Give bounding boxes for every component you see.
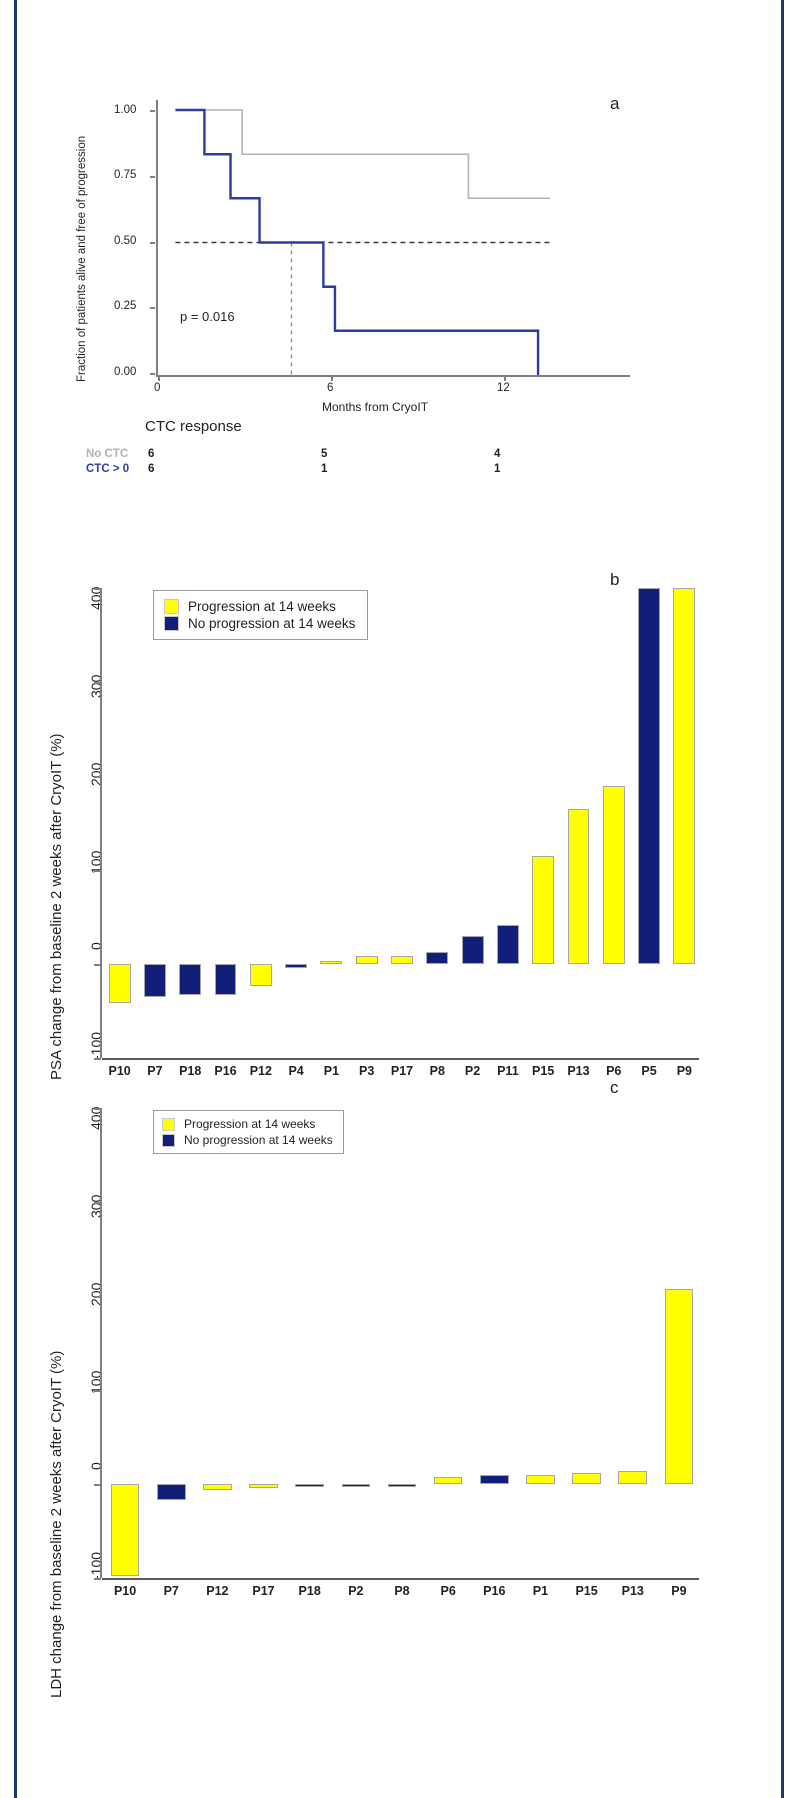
panel-b-ytick-mark-100 [94, 870, 101, 872]
panel-b-psa-waterfall: b PSA change from baseline 2 weeks after… [40, 560, 740, 1120]
x-label-P9: P9 [656, 1584, 702, 1598]
x-label-P15: P15 [564, 1584, 610, 1598]
risk-count-ctc-positive-6: 1 [321, 463, 327, 475]
panel-b-ytick-mark-300 [94, 682, 101, 684]
bar-P12 [250, 964, 272, 986]
bar-P12 [203, 1484, 232, 1490]
bar-P16 [215, 964, 237, 995]
bar-P5 [638, 588, 660, 964]
panel-c-y-axis-title: LDH change from baseline 2 weeks after C… [48, 1351, 65, 1698]
panel-b-y-axis-title: PSA change from baseline 2 weeks after C… [48, 733, 65, 1080]
risk-count-ctc-positive-0: 6 [148, 463, 154, 475]
risk-count-ctc-positive-12: 1 [494, 463, 500, 475]
panel-b-bars [102, 588, 702, 1058]
x-label-P2: P2 [333, 1584, 379, 1598]
bar-P9 [673, 588, 695, 964]
panel-b-letter: b [610, 570, 619, 590]
panel-c-ytick-mark-100 [94, 1390, 101, 1392]
bar-P4 [285, 964, 307, 968]
x-label-P16: P16 [471, 1584, 517, 1598]
panel-b-ytick-mark-200 [94, 776, 101, 778]
bar-P2 [462, 936, 484, 964]
bar-P15 [532, 856, 554, 964]
panel-a-kaplan-meier: a Fraction of patients alive and free of… [70, 90, 630, 400]
bar-P17 [249, 1484, 278, 1488]
bar-P15 [572, 1473, 601, 1484]
bar-P1 [526, 1475, 555, 1484]
x-label-P17: P17 [240, 1584, 286, 1598]
bar-P8 [426, 952, 448, 964]
risk-count-no-ctc-6: 5 [321, 448, 327, 460]
bar-P2 [342, 1484, 371, 1487]
bar-P13 [618, 1471, 647, 1484]
bar-P13 [568, 809, 590, 964]
bar-P10 [111, 1484, 140, 1576]
panel-c-ytick-mark-300 [94, 1202, 101, 1204]
panel-c-letter: c [610, 1078, 619, 1098]
x-label-P10: P10 [102, 1584, 148, 1598]
risk-table-title: CTC response [145, 418, 242, 435]
panel-a-xtick-1: 0 [154, 382, 160, 394]
risk-row-label-ctc-positive: CTC > 0 [86, 463, 129, 475]
bar-P1 [320, 961, 342, 964]
bar-P11 [497, 925, 519, 964]
bar-P3 [356, 956, 378, 964]
panel-c-ytick-mark-200 [94, 1296, 101, 1298]
bar-P16 [480, 1475, 509, 1484]
bar-P6 [603, 786, 625, 964]
x-label-P6: P6 [425, 1584, 471, 1598]
panel-c-ldh-waterfall: c LDH change from baseline 2 weeks after… [40, 1058, 740, 1758]
bar-P8 [388, 1484, 417, 1487]
risk-row-label-no-ctc: No CTC [86, 448, 128, 460]
panel-a-x-axis-title: Months from CryoIT [322, 400, 428, 414]
panel-a-risk-table: CTC response No CTC 6 5 4 CTC > 0 6 1 1 [70, 418, 630, 498]
bar-P7 [144, 964, 166, 997]
panel-a-letter: a [610, 94, 619, 114]
bar-P7 [157, 1484, 186, 1500]
panel-c-ytick-mark-minus100 [94, 1578, 101, 1580]
panel-c-ytick-mark-0 [94, 1484, 101, 1486]
x-label-P1: P1 [517, 1584, 563, 1598]
panel-b-ytick-mark-400 [94, 588, 101, 590]
risk-count-no-ctc-0: 6 [148, 448, 154, 460]
bar-P6 [434, 1477, 463, 1484]
bar-P18 [295, 1484, 324, 1487]
bar-P18 [179, 964, 201, 995]
panel-a-xtick-3: 12 [497, 382, 510, 394]
panel-b-ytick-mark-0 [94, 964, 101, 966]
panel-a-xtick-2: 6 [327, 382, 333, 394]
panel-c-x-axis-line [102, 1578, 699, 1580]
bar-P9 [665, 1289, 694, 1484]
bar-P17 [391, 956, 413, 964]
panel-c-ytick-mark-400 [94, 1108, 101, 1110]
x-label-P8: P8 [379, 1584, 425, 1598]
risk-count-no-ctc-12: 4 [494, 448, 500, 460]
x-label-P7: P7 [148, 1584, 194, 1598]
x-label-P18: P18 [287, 1584, 333, 1598]
bar-P10 [109, 964, 131, 1003]
panel-a-survival-curves [70, 90, 550, 380]
panel-c-bars [102, 1108, 702, 1578]
x-label-P13: P13 [610, 1584, 656, 1598]
x-label-P12: P12 [194, 1584, 240, 1598]
panel-c-x-axis-labels: P10P7P12P17P18P2P8P6P16P1P15P13P9 [102, 1584, 702, 1608]
